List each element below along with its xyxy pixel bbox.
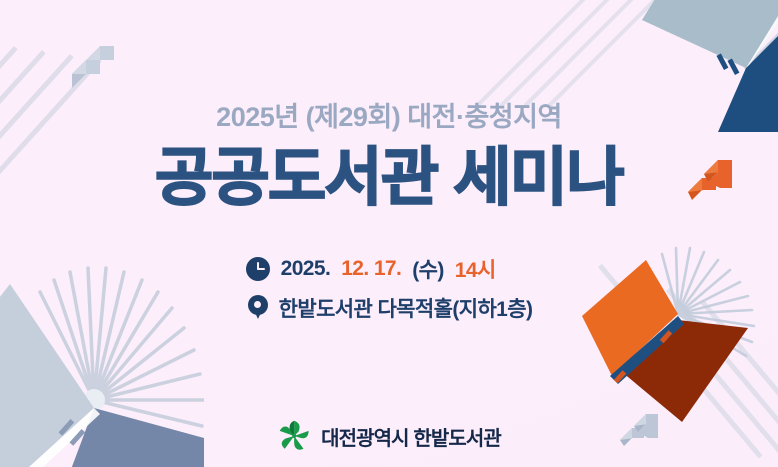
poster-content: 2025년 (제29회) 대전·충청지역 공공도서관 세미나 2025. 12.… [0,0,778,467]
seminar-poster: 2025년 (제29회) 대전·충청지역 공공도서관 세미나 2025. 12.… [0,0,778,467]
event-place-row: 한밭도서관 다목적홀(지하1층) [246,293,533,323]
footer-logo-text: 대전광역시 한밭도서관 [321,422,501,451]
event-year: 2025. [281,257,331,281]
poster-subtitle: 2025년 (제29회) 대전·충청지역 [216,104,562,131]
poster-title: 공공도서관 세미나 [155,145,623,212]
event-weekday: (수) [412,254,444,284]
event-info-block: 2025. 12. 17. (수) 14시 한밭도서관 다목적홀(지하1층) [246,254,533,323]
event-month-day: 12. 17. [341,257,401,281]
footer-logo: 대전광역시 한밭도서관 [277,419,501,453]
hanbat-library-flower-logo-icon [277,419,311,453]
event-venue: 한밭도서관 다목적홀(지하1층) [279,293,533,323]
clock-icon [246,257,270,281]
map-pin-icon [248,295,268,321]
event-date-row: 2025. 12. 17. (수) 14시 [246,254,533,284]
event-time: 14시 [455,254,496,284]
